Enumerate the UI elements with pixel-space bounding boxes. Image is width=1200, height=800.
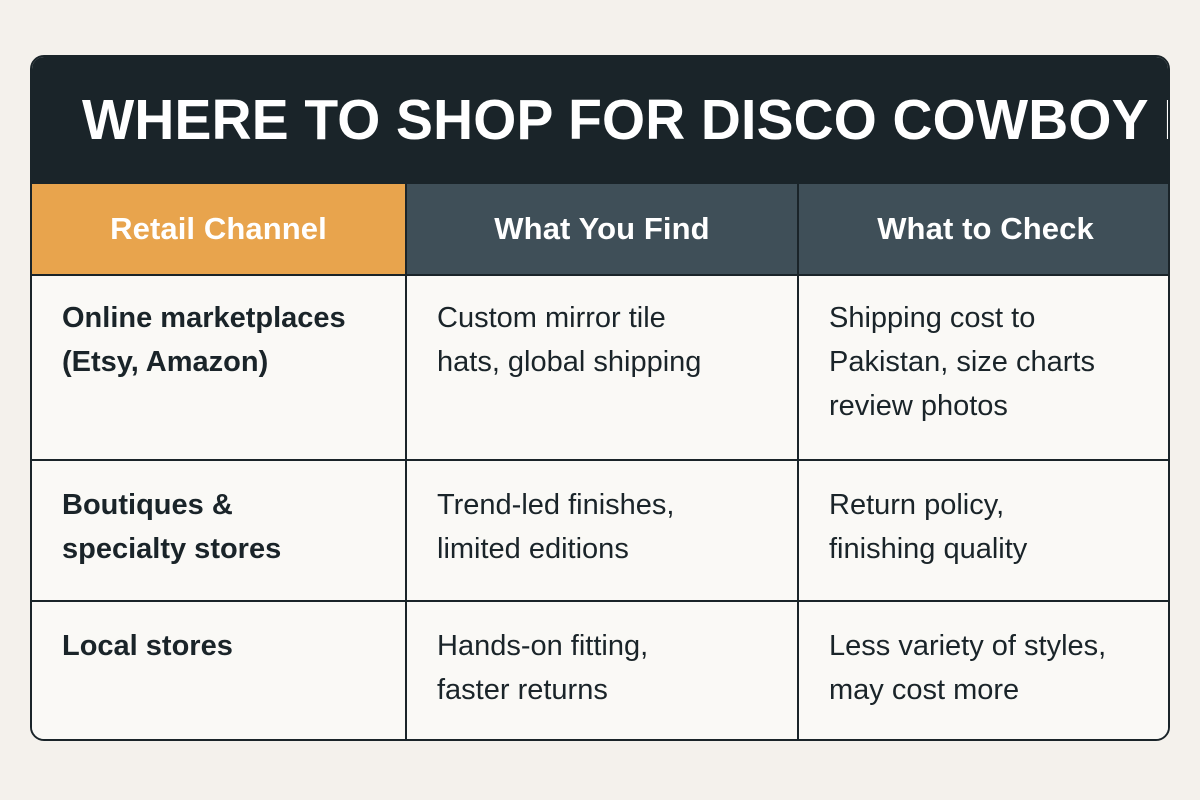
cell-what-you-find: Hands-on fitting, faster returns xyxy=(407,602,797,741)
cell-what-you-find: Custom mirror tile hats, global shipping xyxy=(407,276,797,459)
table-row: Local stores Hands-on fitting, faster re… xyxy=(32,602,1168,741)
cell-what-to-check: Less variety of styles, may cost more xyxy=(799,602,1170,741)
table-row: Boutiques & specialty stores Trend-led f… xyxy=(32,461,1168,602)
table-header-row: Retail Channel What You Find What to Che… xyxy=(32,184,1168,276)
cell-text: Return policy, finishing quality xyxy=(829,483,1027,571)
cell-retail-channel: Online marketplaces (Etsy, Amazon) xyxy=(32,276,405,459)
cell-retail-channel: Local stores xyxy=(32,602,405,741)
column-header-label: What You Find xyxy=(494,211,709,247)
page-title: WHERE TO SHOP FOR DISCO COWBOY HATS xyxy=(82,92,1170,149)
infographic-card: WHERE TO SHOP FOR DISCO COWBOY HATS Reta… xyxy=(30,55,1170,741)
column-header-what-you-find: What You Find xyxy=(407,184,797,274)
cell-text: Local stores xyxy=(62,624,233,668)
cell-retail-channel: Boutiques & specialty stores xyxy=(32,461,405,600)
table-row: Online marketplaces (Etsy, Amazon) Custo… xyxy=(32,276,1168,461)
cell-text: Hands-on fitting, faster returns xyxy=(437,624,648,712)
column-header-retail-channel: Retail Channel xyxy=(32,184,405,274)
cell-text: Custom mirror tile hats, global shipping xyxy=(437,296,701,384)
cell-text: Shipping cost to Pakistan, size charts r… xyxy=(829,296,1095,428)
cell-what-to-check: Shipping cost to Pakistan, size charts r… xyxy=(799,276,1170,459)
cell-text: Trend-led finishes, limited editions xyxy=(437,483,674,571)
title-banner: WHERE TO SHOP FOR DISCO COWBOY HATS xyxy=(32,57,1168,184)
cell-text: Boutiques & specialty stores xyxy=(62,483,281,571)
comparison-table: Retail Channel What You Find What to Che… xyxy=(32,184,1168,741)
cell-text: Online marketplaces (Etsy, Amazon) xyxy=(62,296,346,384)
column-header-label: What to Check xyxy=(877,211,1094,247)
column-header-what-to-check: What to Check xyxy=(799,184,1170,274)
cell-text: Less variety of styles, may cost more xyxy=(829,624,1106,712)
cell-what-you-find: Trend-led finishes, limited editions xyxy=(407,461,797,600)
column-header-label: Retail Channel xyxy=(110,211,327,247)
cell-what-to-check: Return policy, finishing quality xyxy=(799,461,1170,600)
